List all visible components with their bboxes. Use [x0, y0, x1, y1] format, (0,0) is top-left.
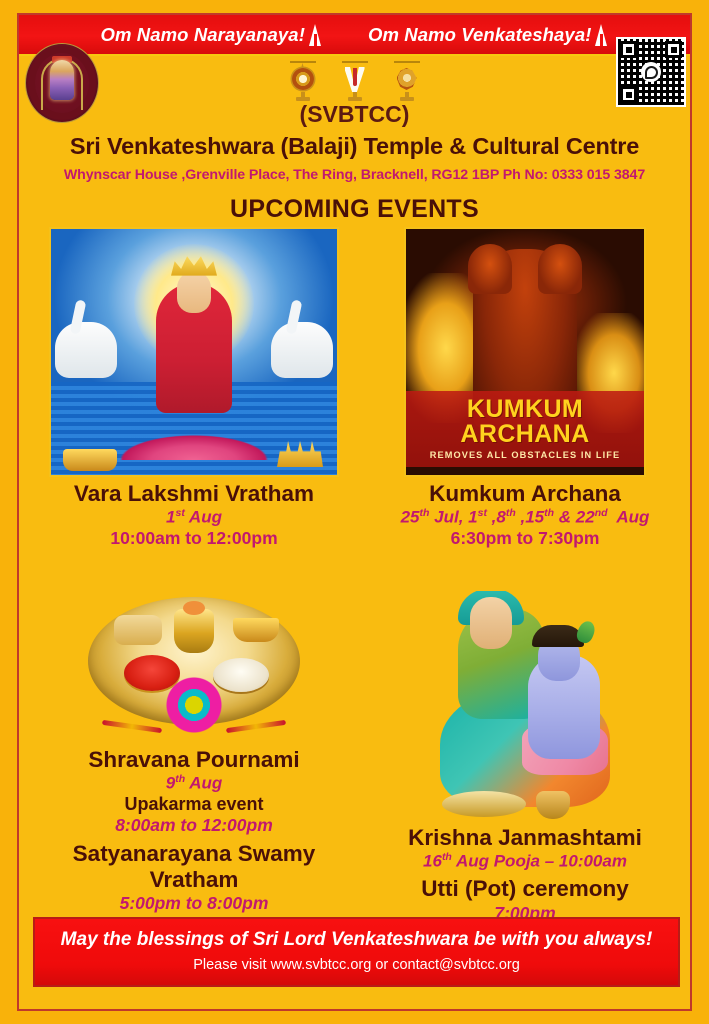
event-time: 6:30pm to 7:30pm: [364, 528, 686, 549]
kumkum-archana-image: KUMKUM ARCHANA REMOVES ALL OBSTACLES IN …: [404, 227, 646, 477]
shankha-conch-icon: [392, 61, 422, 101]
blessing-text: May the blessings of Sri Lord Venkateshw…: [35, 928, 678, 952]
event-title: Shravana Pournami: [33, 747, 355, 773]
event-poster: Om Namo Narayanaya! Om Namo Venkateshaya…: [0, 0, 709, 1024]
event-card-krishna-janmashtami: Krishna Janmashtami 16th Aug Pooja – 10:…: [364, 591, 686, 924]
footer-banner: May the blessings of Sri Lord Venkateshw…: [33, 917, 680, 987]
namam-icon: [309, 23, 322, 47]
event-date: 9th Aug: [33, 773, 355, 794]
chant-right-text: Om Namo Venkateshaya!: [368, 24, 592, 46]
event-subtitle-utti: Utti (Pot) ceremony: [364, 876, 686, 902]
namam-icon: [595, 23, 608, 47]
top-chant-banner: Om Namo Narayanaya! Om Namo Venkateshaya…: [19, 15, 690, 56]
poster-inner-frame: Om Namo Narayanaya! Om Namo Venkateshaya…: [17, 13, 692, 1011]
event-card-kumkum-archana: KUMKUM ARCHANA REMOVES ALL OBSTACLES IN …: [364, 227, 686, 550]
address-line: Whynscar House ,Grenville Place, The Rin…: [19, 167, 690, 183]
event-date: 25th Jul, 1st ,8th ,15th & 22nd Aug: [364, 507, 686, 528]
section-title: UPCOMING EVENTS: [19, 195, 690, 224]
elephant-left-icon: [55, 322, 117, 378]
puja-thali-image: [69, 591, 319, 743]
event-time-satyanarayana: 5:00pm to 8:00pm: [33, 893, 355, 914]
event-card-vara-lakshmi: Vara Lakshmi Vratham 1st Aug 10:00am to …: [33, 227, 355, 550]
kumkum-overlay-line2: ARCHANA: [406, 422, 644, 447]
event-subtitle-satyanarayana: Satyanarayana Swamy Vratham: [33, 841, 355, 893]
qr-finder-top-right: [665, 41, 682, 58]
event-time-upakarma: 8:00am to 12:00pm: [33, 815, 355, 836]
event-subtitle-upakarma: Upakarma event: [33, 794, 355, 815]
event-title: Vara Lakshmi Vratham: [33, 481, 355, 507]
kumkum-overlay-band: KUMKUM ARCHANA REMOVES ALL OBSTACLES IN …: [406, 391, 644, 467]
kumkum-overlay-tagline: REMOVES ALL OBSTACLES IN LIFE: [406, 450, 644, 460]
events-grid: Vara Lakshmi Vratham 1st Aug 10:00am to …: [19, 227, 690, 939]
kumkum-overlay-line1: KUMKUM: [406, 397, 644, 422]
event-date: 16th Aug Pooja – 10:00am: [364, 851, 686, 872]
rakhi-icon: [156, 671, 232, 739]
elephant-right-icon: [271, 322, 333, 378]
krishna-yashoda-image: [432, 591, 618, 821]
contact-text[interactable]: Please visit www.svbtcc.org or contact@s…: [35, 957, 678, 974]
lakshmi-image: [49, 227, 339, 477]
event-date: 1st Aug: [33, 507, 355, 528]
page-title: Sri Venkateshwara (Balaji) Temple & Cult…: [19, 133, 690, 160]
event-title: Kumkum Archana: [364, 481, 686, 507]
event-title: Krishna Janmashtami: [364, 825, 686, 851]
sudarshana-chakra-icon: [288, 61, 318, 101]
chant-left: Om Namo Narayanaya!: [101, 23, 322, 47]
qr-finder-top-left: [620, 41, 637, 58]
event-time: 10:00am to 12:00pm: [33, 528, 355, 549]
tirumala-namam-icon: [340, 61, 370, 101]
chant-left-text: Om Namo Narayanaya!: [101, 24, 305, 46]
event-card-shravana-pournami: Shravana Pournami 9th Aug Upakarma event…: [33, 591, 355, 914]
acronym-title: (SVBTCC): [19, 101, 690, 128]
chant-right: Om Namo Venkateshaya!: [368, 23, 609, 47]
vaishnava-symbol-row: [19, 59, 690, 101]
